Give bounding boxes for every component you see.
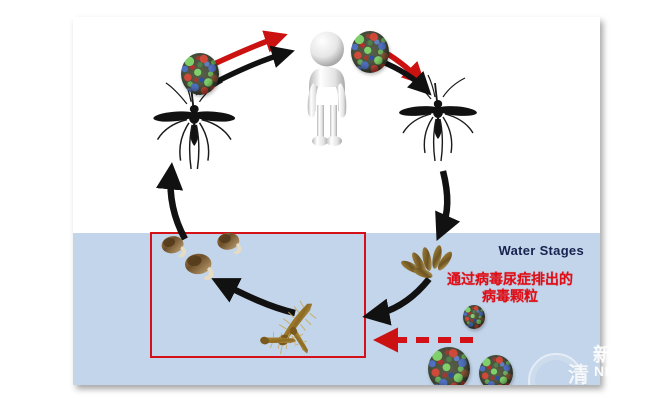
mosquito-pupae [160, 231, 242, 282]
virus-particle-right [351, 31, 389, 73]
mosquito-eggs [399, 244, 454, 280]
arrow-mosquito-to-eggs [441, 171, 447, 231]
virus-particle-water-small [463, 305, 485, 329]
virus-particle-water-medium [479, 355, 513, 385]
adult-mosquito-right [399, 75, 478, 161]
diagram-panel: Water Stages 通过病毒尿症排出的 病毒颗粒 [73, 17, 600, 385]
virus-particle-water-large [428, 347, 470, 385]
arrow-larvae-to-pupae [221, 283, 295, 313]
arrow-pupae-to-adult-mosquito [171, 173, 185, 239]
human-figure [308, 32, 347, 147]
figure-canvas: Water Stages 通过病毒尿症排出的 病毒颗粒 [0, 0, 650, 400]
virus-particle-left [181, 53, 219, 95]
arrow-eggs-to-larvae [373, 279, 429, 315]
diagram-artwork [73, 17, 600, 385]
watermark-news-en: NEWS [594, 363, 638, 379]
